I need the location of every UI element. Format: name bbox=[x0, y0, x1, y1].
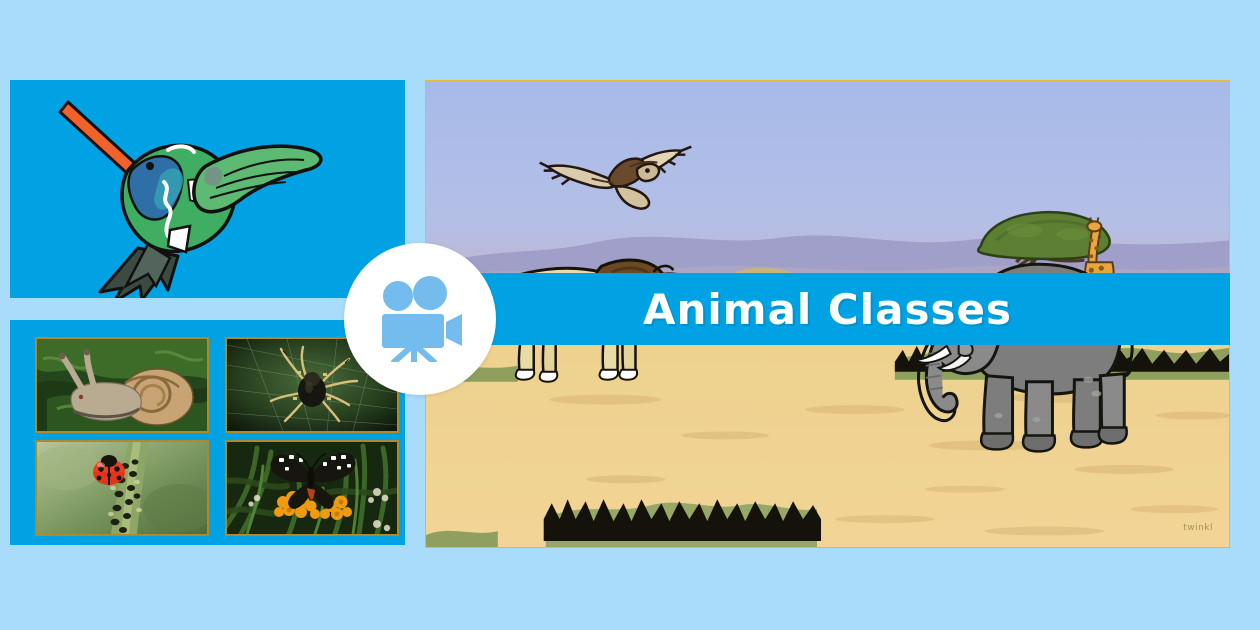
poster-canvas: twinkl bbox=[0, 0, 1260, 630]
butterfly-photo[interactable] bbox=[225, 440, 399, 536]
title-banner: Animal Classes bbox=[425, 273, 1230, 345]
page-title: Animal Classes bbox=[643, 285, 1012, 334]
snail-photo[interactable] bbox=[35, 337, 209, 433]
hummingbird-panel bbox=[10, 80, 405, 298]
butterfly-photo-image bbox=[227, 442, 397, 534]
ladybird-photo-image bbox=[37, 442, 207, 534]
video-play-badge[interactable] bbox=[344, 243, 496, 395]
snail-photo-image bbox=[37, 339, 207, 431]
hummingbird-illustration bbox=[10, 80, 405, 298]
watermark-right: twinkl bbox=[1183, 523, 1213, 533]
photo-grid-panel: twinkl bbox=[10, 320, 405, 545]
video-camera-icon bbox=[368, 276, 472, 362]
ladybird-photo[interactable] bbox=[35, 440, 209, 536]
